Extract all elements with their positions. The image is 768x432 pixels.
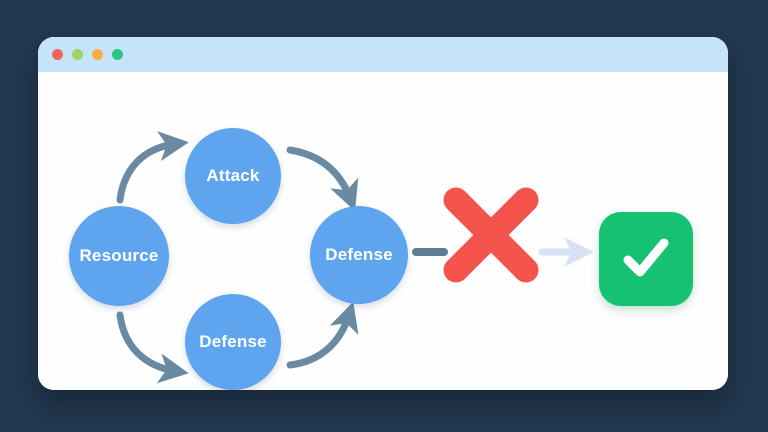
edge-resource-to-attack — [120, 144, 175, 200]
check-mark-icon — [617, 230, 675, 288]
cross-mark-icon — [436, 180, 546, 290]
edge-resource-to-defense-lower — [120, 315, 175, 371]
diagram-canvas: Resource Attack Defense Defense — [38, 72, 728, 390]
approve-badge[interactable] — [599, 212, 693, 306]
window-traffic-lights — [52, 49, 123, 60]
node-defense-lower-label: Defense — [199, 332, 267, 352]
edge-attack-to-defense — [290, 150, 350, 198]
node-defense-lower[interactable]: Defense — [185, 294, 281, 390]
zoom-dot[interactable] — [92, 49, 103, 60]
node-defense-main-label: Defense — [325, 245, 393, 265]
node-resource-label: Resource — [79, 246, 158, 266]
browser-window-card: Resource Attack Defense Defense — [38, 37, 728, 390]
node-resource[interactable]: Resource — [69, 206, 169, 306]
minimize-dot[interactable] — [72, 49, 83, 60]
extra-dot[interactable] — [112, 49, 123, 60]
node-defense-main[interactable]: Defense — [310, 206, 408, 304]
close-dot[interactable] — [52, 49, 63, 60]
screenshot-stage: Resource Attack Defense Defense — [0, 0, 768, 432]
node-attack[interactable]: Attack — [185, 128, 281, 224]
edge-defense-lower-to-defense — [290, 315, 349, 365]
node-attack-label: Attack — [206, 166, 259, 186]
window-title-bar — [38, 37, 728, 72]
